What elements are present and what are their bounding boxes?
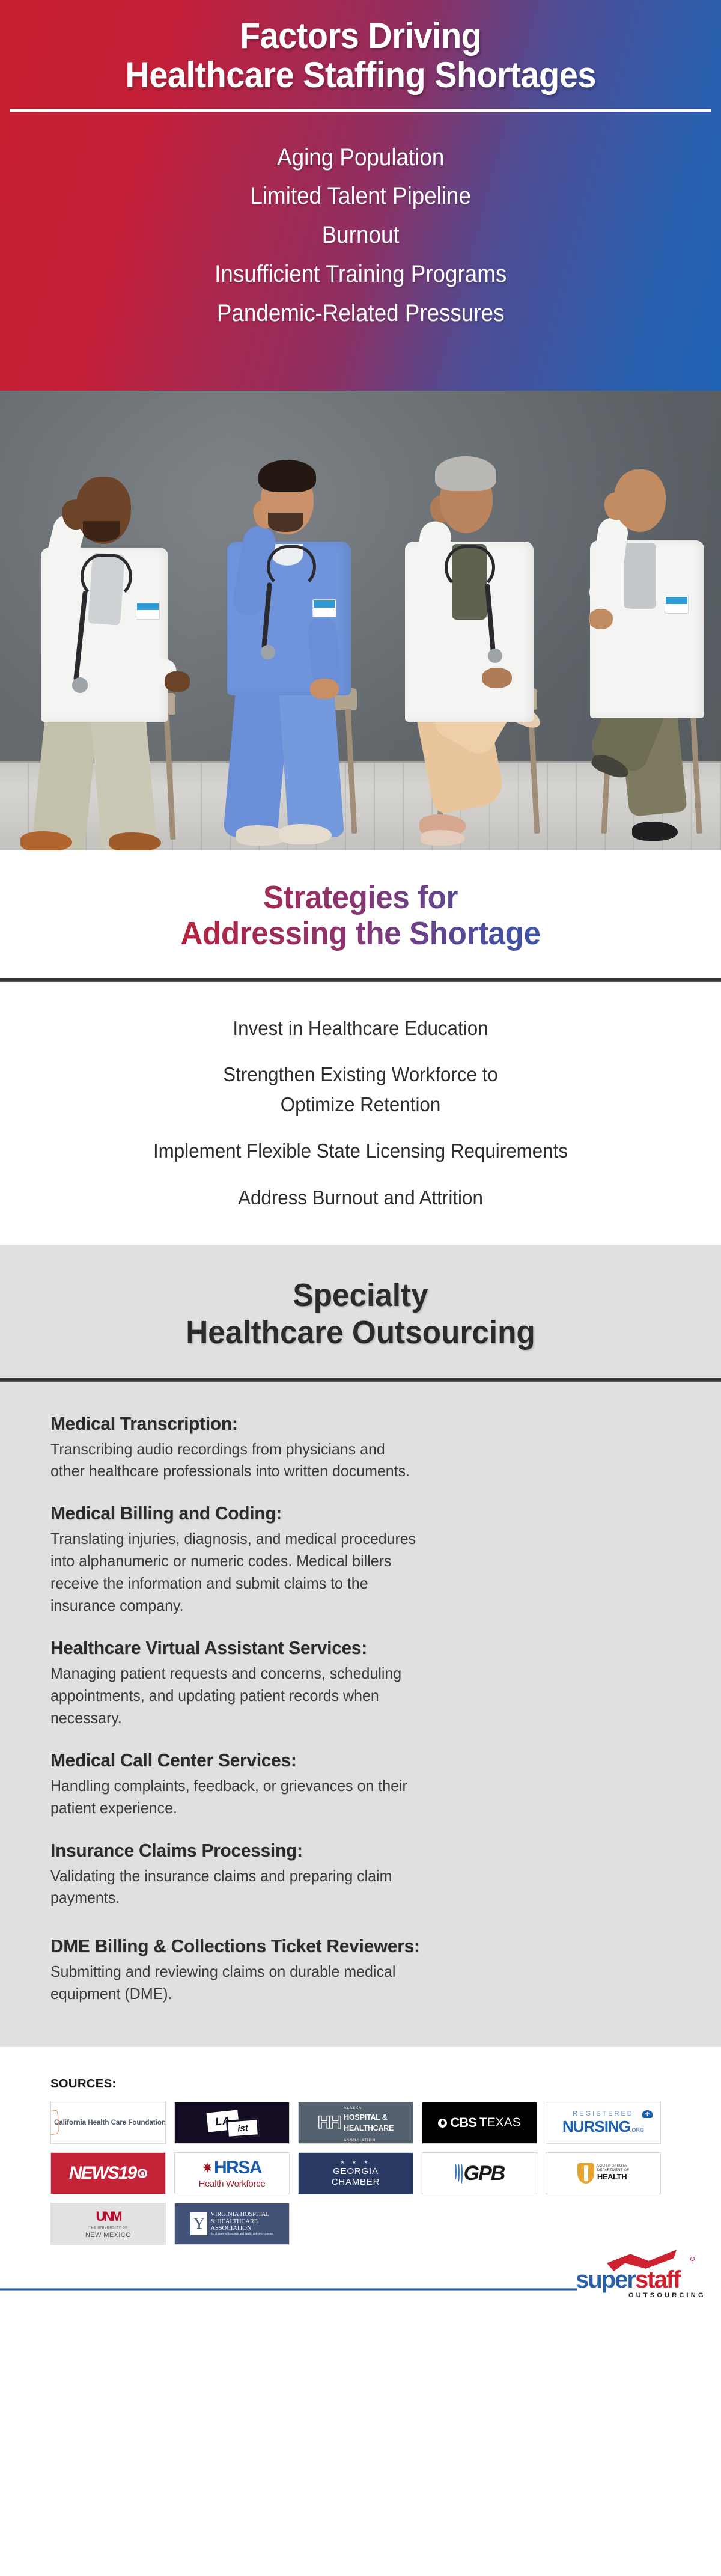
head [614,469,666,532]
services-list: Medical Transcription: Transcribing audi… [0,1382,721,2048]
inner-top [624,543,656,609]
logo-word: NURSING [562,2117,630,2135]
factor-item: Aging Population [214,138,507,177]
logo-line-2: HOSPITAL & [344,2113,388,2122]
source-logo-gpb[interactable]: GPB [422,2152,537,2194]
source-logo-label-2: NURSING.ORG [562,2117,644,2136]
strategy-item: Strengthen Existing Workforce to Optimiz… [41,1060,680,1119]
source-logo-news19[interactable]: NEWS19 [50,2152,166,2194]
page-title-line-1: Factors Driving [240,16,481,56]
source-logo-grid: California Health Care Foundation LA ist… [50,2102,669,2245]
hand [482,668,512,688]
service-description: Managing patient requests and concerns, … [50,1662,414,1729]
chair-leg [164,713,176,840]
logo-line-3: ASSOCIATION [210,2225,273,2232]
logo-line-4: ASSOCIATION [344,2138,376,2143]
stethoscope [81,554,132,599]
source-logo-university-of-new-mexico[interactable]: UNM THE UNIVERSITY OF NEW MEXICO [50,2203,166,2245]
brand-tagline: OUTSOURCING [628,2292,706,2299]
source-logo-registered-nursing[interactable]: REGISTERED NURSING.ORG [546,2102,661,2144]
service-description: Validating the insurance claims and prep… [50,1865,454,1909]
service-item: DME Billing & Collections Ticket Reviewe… [50,1935,671,2005]
hero-divider [10,109,711,112]
hand [310,679,339,699]
broadcast-waves-icon [455,2164,463,2184]
logo-line-3: HEALTHCARE [344,2124,394,2132]
service-title: Insurance Claims Processing: [50,1840,646,1861]
vhha-emblem-icon [190,2212,207,2235]
page-title-line-2: Healthcare Staffing Shortages [125,55,595,95]
hair [258,460,316,492]
service-title: Healthcare Virtual Assistant Services: [50,1637,646,1659]
logo-line-2: & HEALTHCARE [210,2218,273,2225]
service-description: Transcribing audio recordings from physi… [50,1438,419,1483]
logo-line-4: An alliance of hospitals and health deli… [210,2233,273,2236]
source-logo-label: NEWS19 [69,2163,147,2184]
stethoscope-chestpiece [261,645,275,659]
strategies-title-line-2: Addressing the Shortage [180,915,540,951]
stars-icon: ★ ★ ★ [341,2159,371,2165]
source-logo-label: GEORGIA [333,2166,379,2176]
service-item: Healthcare Virtual Assistant Services: M… [50,1637,671,1729]
service-item: Medical Transcription: Transcribing audi… [50,1413,671,1483]
source-logo-label-2: ist [226,2118,260,2138]
source-logo-label-2: CHAMBER [332,2177,380,2187]
strategies-section: Strategies for Addressing the Shortage I… [0,850,721,1245]
stethoscope [445,545,495,590]
source-logo-label: HRSA [214,2158,261,2178]
logo-word: NEWS19 [69,2163,136,2184]
hair-gray [435,456,496,491]
beard [83,521,120,542]
nurse-cap-icon [642,2110,653,2118]
page-title: Factors Driving Healthcare Staffing Shor… [125,17,595,95]
beard [268,513,303,532]
sources-section: SOURCES: California Health Care Foundati… [0,2047,721,2245]
source-logo-label: VIRGINIA HOSPITAL & HEALTHCARE ASSOCIATI… [210,2211,273,2236]
healthcare-workers-photo [0,391,721,850]
logo-line-1: SOUTH DAKOTA [597,2164,629,2168]
stethoscope-chestpiece [72,677,88,693]
factors-list: Aging Population Limited Talent Pipeline… [214,138,507,333]
hh-monogram-icon: HH [318,2113,340,2133]
chair-leg [345,709,357,834]
badge-header [666,597,687,604]
service-title: Medical Call Center Services: [50,1750,646,1771]
logo-line-1: ALASKA [344,2106,362,2110]
strategy-item: Address Burnout and Attrition [41,1183,680,1213]
source-logo-label: California Health Care Foundation [54,2119,166,2126]
hrsa-emblem-icon [202,2162,212,2173]
hand [165,671,190,692]
outsourcing-title-line-2: Healthcare Outsourcing [186,1314,535,1351]
strategy-item: Invest in Healthcare Education [41,1013,680,1043]
strategies-title: Strategies for Addressing the Shortage [18,879,703,952]
logo-top-row: HRSA [202,2158,261,2178]
service-title: Medical Billing and Coding: [50,1503,646,1524]
california-bear-icon [50,2113,52,2133]
source-logo-label: SOUTH DAKOTA DEPARTMENT OF HEALTH [597,2164,629,2182]
chair-leg [690,709,702,834]
source-logo-virginia-hospital-healthcare[interactable]: VIRGINIA HOSPITAL & HEALTHCARE ASSOCIATI… [174,2203,290,2245]
logo-line-1: VIRGINIA HOSPITAL [210,2211,273,2218]
factor-item: Insufficient Training Programs [214,255,507,294]
stethoscope [267,545,316,588]
registered-mark-icon [690,2257,695,2261]
strategies-list: Invest in Healthcare Education Strengthe… [18,982,703,1245]
heel [632,822,678,841]
cbs-eye-icon [438,2119,447,2128]
person-4-doctor [565,436,715,850]
hero-section: Factors Driving Healthcare Staffing Shor… [0,0,721,391]
service-description: Submitting and reviewing claims on durab… [50,1961,408,2005]
service-item: Medical Billing and Coding: Translating … [50,1503,671,1617]
person-1-doctor [18,442,222,850]
badge-header [314,600,335,608]
source-logo-label: ALASKA HOSPITAL & HEALTHCARE ASSOCIATION [344,2102,394,2144]
shoe [279,824,332,844]
stethoscope-chestpiece [488,649,502,663]
unm-monogram-icon: UNM [96,2209,120,2224]
source-logo-label: THE UNIVERSITY OF [89,2226,128,2230]
factor-item: Limited Talent Pipeline [214,177,507,216]
brand-word-staff: staff [635,2266,680,2293]
brand-wordmark: superstaff [576,2266,680,2294]
source-logo-label-2: Health Workforce [199,2179,266,2189]
source-logo-georgia-chamber[interactable]: ★ ★ ★ GEORGIA CHAMBER [298,2152,413,2194]
brand-word-super: super [576,2266,635,2293]
source-logo-label: CBS [450,2115,476,2131]
service-item: Insurance Claims Processing: Validating … [50,1840,671,1909]
person-2-nurse [204,436,403,850]
outsourcing-section: Specialty Healthcare Outsourcing Medical… [0,1245,721,2047]
id-badge [136,602,160,620]
badge-header [137,603,159,610]
source-logo-label-2: TEXAS [479,2116,521,2130]
source-logo-chcf[interactable]: California Health Care Foundation [50,2102,166,2144]
shield-icon [577,2163,594,2184]
source-logo-alaska-hospital-healthcare[interactable]: HH ALASKA HOSPITAL & HEALTHCARE ASSOCIAT… [298,2102,413,2144]
service-description: Translating injuries, diagnosis, and med… [50,1528,431,1617]
source-logo-label: REGISTERED [573,2110,634,2117]
outsourcing-title-line-1: Specialty [293,1277,428,1313]
hand [589,609,613,629]
footer-divider [0,2288,577,2291]
person-3-senior-doctor [385,436,589,850]
factor-item: Burnout [214,216,507,255]
service-item: Medical Call Center Services: Handling c… [50,1750,671,1819]
service-title: DME Billing & Collections Ticket Reviewe… [50,1935,646,1957]
cbs-eye-icon [138,2169,147,2178]
logo-tld: .ORG [630,2127,644,2133]
strategies-title-line-1: Strategies for [263,879,458,915]
source-logo-cbs-texas[interactable]: CBS TEXAS [422,2102,537,2144]
id-badge [665,596,689,614]
source-logo-label: GPB [464,2162,505,2185]
heel [421,830,465,846]
superstaff-logo[interactable]: superstaff OUTSOURCING [576,2250,696,2310]
source-logo-hrsa[interactable]: HRSA Health Workforce [174,2152,290,2194]
sources-label: SOURCES: [50,2077,671,2091]
factor-item: Pandemic-Related Pressures [214,294,507,333]
scrub-trouser-leg [278,679,344,840]
id-badge [312,599,336,617]
service-title: Medical Transcription: [50,1413,646,1435]
logo-line-3: HEALTH [597,2172,627,2181]
source-logo-label-2: NEW MEXICO [85,2232,131,2239]
strategy-item: Implement Flexible State Licensing Requi… [41,1136,680,1166]
outsourcing-title: Specialty Healthcare Outsourcing [18,1245,703,1378]
footer: superstaff OUTSOURCING [0,2245,721,2329]
service-description: Handling complaints, feedback, or grieva… [50,1775,419,1819]
source-logo-south-dakota-health[interactable]: SOUTH DAKOTA DEPARTMENT OF HEALTH [546,2152,661,2194]
source-logo-laist[interactable]: LA ist [174,2102,290,2144]
